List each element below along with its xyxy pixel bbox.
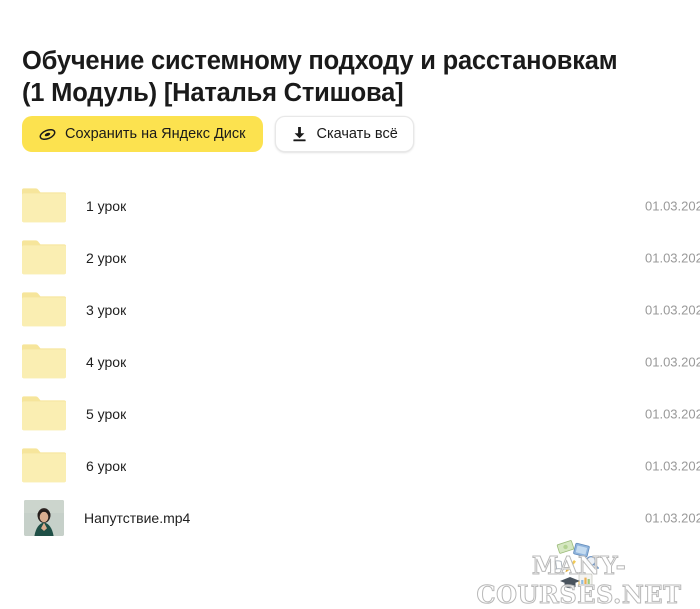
file-row[interactable]: 3 урок01.03.202 (0, 284, 700, 336)
file-name: Напутствие.mp4 (84, 509, 190, 527)
file-row[interactable]: Напутствие.mp401.03.202 (0, 492, 700, 544)
file-row[interactable]: 4 урок01.03.202 (0, 336, 700, 388)
watermark: MANY-COURSES.NET (466, 536, 692, 594)
file-date: 01.03.202 (645, 407, 700, 422)
file-date: 01.03.202 (645, 459, 700, 474)
file-date: 01.03.202 (645, 199, 700, 214)
file-date: 01.03.202 (645, 251, 700, 266)
folder-icon (22, 290, 66, 330)
file-row[interactable]: 5 урок01.03.202 (0, 388, 700, 440)
yandex-disk-icon (39, 126, 56, 143)
download-icon (291, 126, 308, 143)
video-thumbnail (24, 500, 64, 536)
file-row[interactable]: 1 урок01.03.202 (0, 180, 700, 232)
file-name: 1 урок (86, 197, 126, 215)
folder-icon (22, 394, 66, 434)
download-all-label: Скачать всё (317, 126, 398, 142)
save-to-yandex-disk-button[interactable]: Сохранить на Яндекс Диск (22, 116, 263, 152)
save-to-yandex-disk-label: Сохранить на Яндекс Диск (65, 126, 246, 142)
folder-icon (22, 446, 66, 486)
download-all-button[interactable]: Скачать всё (275, 116, 414, 152)
file-name: 6 урок (86, 457, 126, 475)
yandex-disk-public-page: Обучение системному подходу и расстановк… (0, 0, 700, 604)
file-date: 01.03.202 (645, 303, 700, 318)
file-date: 01.03.202 (645, 511, 700, 526)
action-toolbar: Сохранить на Яндекс Диск Скачать всё (22, 116, 414, 152)
courses-circle-logo-icon (545, 536, 603, 594)
file-list: 1 урок01.03.2022 урок01.03.2023 урок01.0… (0, 180, 700, 544)
watermark-text: MANY-COURSES.NET (466, 551, 692, 609)
folder-icon (22, 238, 66, 278)
folder-icon (22, 342, 66, 382)
file-name: 4 урок (86, 353, 126, 371)
file-row[interactable]: 6 урок01.03.202 (0, 440, 700, 492)
file-name: 3 урок (86, 301, 126, 319)
file-name: 5 урок (86, 405, 126, 423)
file-date: 01.03.202 (645, 355, 700, 370)
folder-icon (22, 186, 66, 226)
file-name: 2 урок (86, 249, 126, 267)
page-title: Обучение системному подходу и расстановк… (22, 45, 682, 109)
file-row[interactable]: 2 урок01.03.202 (0, 232, 700, 284)
